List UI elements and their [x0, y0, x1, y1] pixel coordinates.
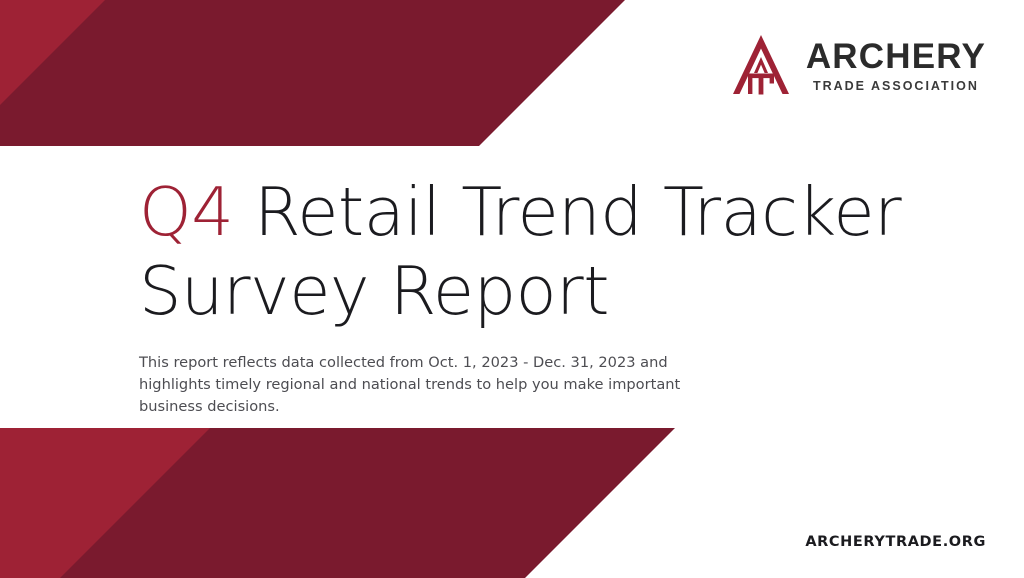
page-title: Q4 Retail Trend TrackerSurvey Report: [139, 173, 969, 331]
decorative-band-bottom-dark: [60, 428, 675, 578]
report-cover-slide: ARCHERY TRADE ASSOCIATION Q4 Retail Tren…: [0, 0, 1024, 578]
cover-headline-block: Q4 Retail Trend TrackerSurvey Report: [139, 173, 969, 331]
footer-website-url: ARCHERYTRADE.ORG: [805, 534, 986, 550]
cover-subtitle: This report reflects data collected from…: [139, 352, 714, 419]
brand-name: ARCHERY: [806, 39, 986, 75]
decorative-band-top-light: [0, 0, 270, 146]
decorative-band-bottom-light: [0, 428, 385, 578]
page-title-rest: Retail Trend Tracker: [233, 173, 901, 251]
page-title-accent: Q4: [139, 173, 233, 251]
archery-trade-association-arrow-logo-icon: [730, 32, 792, 98]
decorative-band-top-dark: [0, 0, 625, 146]
page-title-line-two: Survey Report: [139, 252, 609, 330]
brand-logo-lockup: ARCHERY TRADE ASSOCIATION: [730, 32, 986, 98]
brand-tagline: TRADE ASSOCIATION: [813, 80, 979, 93]
brand-wordmark: ARCHERY TRADE ASSOCIATION: [806, 37, 986, 92]
